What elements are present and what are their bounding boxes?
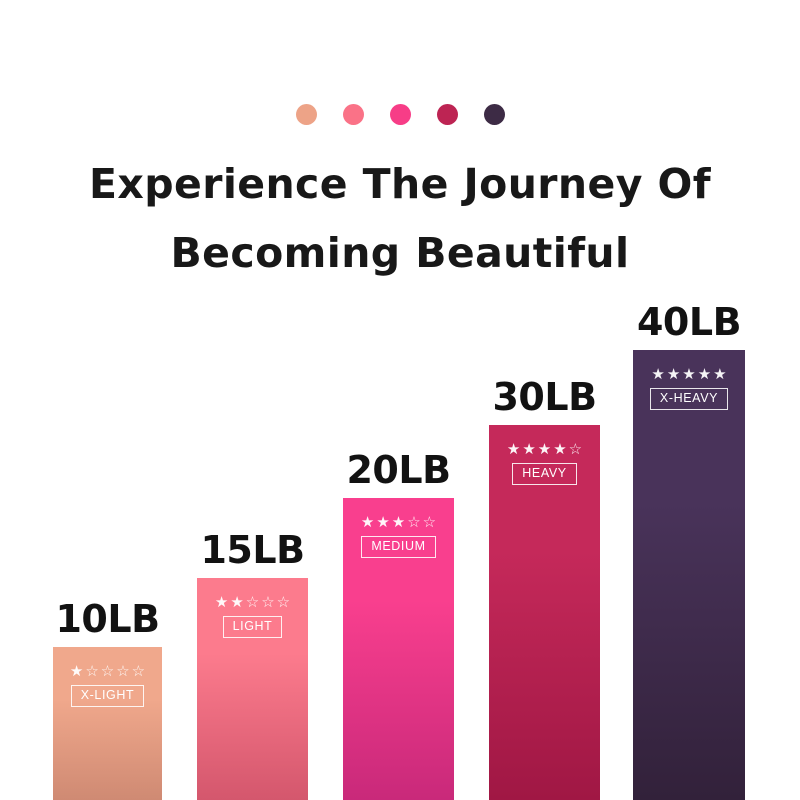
bar-badge: ★★★☆☆MEDIUM xyxy=(343,515,454,558)
star-empty-icon: ☆ xyxy=(85,664,98,679)
bar-tag-label: HEAVY xyxy=(512,463,576,485)
star-empty-icon: ☆ xyxy=(246,595,259,610)
star-filled-icon: ★ xyxy=(392,515,405,530)
bar-tag-label: LIGHT xyxy=(223,616,283,638)
star-filled-icon: ★ xyxy=(70,664,83,679)
star-rating: ★☆☆☆☆ xyxy=(70,664,145,679)
star-rating: ★★★☆☆ xyxy=(361,515,436,530)
star-rating: ★★★★★ xyxy=(651,367,726,382)
bar-tag-label: X-LIGHT xyxy=(71,685,145,707)
star-filled-icon: ★ xyxy=(667,367,680,382)
star-empty-icon: ☆ xyxy=(261,595,274,610)
star-filled-icon: ★ xyxy=(376,515,389,530)
star-filled-icon: ★ xyxy=(538,442,551,457)
star-filled-icon: ★ xyxy=(230,595,243,610)
bar-group-medium[interactable]: 20LB★★★☆☆MEDIUM xyxy=(343,498,454,800)
bar-group-x-heavy[interactable]: 40LB★★★★★X-HEAVY xyxy=(633,350,745,800)
star-empty-icon: ☆ xyxy=(569,442,582,457)
bar-tag-label: MEDIUM xyxy=(361,536,435,558)
bar-rect: ★★★★★X-HEAVY xyxy=(633,350,745,800)
bar-badge: ★★★★☆HEAVY xyxy=(489,442,600,485)
star-filled-icon: ★ xyxy=(682,367,695,382)
star-empty-icon: ☆ xyxy=(407,515,420,530)
bar-group-heavy[interactable]: 30LB★★★★☆HEAVY xyxy=(489,425,600,800)
bar-rect: ★★☆☆☆LIGHT xyxy=(197,578,308,800)
bar-rect: ★★★★☆HEAVY xyxy=(489,425,600,800)
bar-value-label: 30LB xyxy=(492,375,596,419)
star-filled-icon: ★ xyxy=(553,442,566,457)
star-empty-icon: ☆ xyxy=(277,595,290,610)
bar-rect: ★★★☆☆MEDIUM xyxy=(343,498,454,800)
bar-badge: ★★★★★X-HEAVY xyxy=(633,367,745,410)
star-empty-icon: ☆ xyxy=(101,664,114,679)
star-filled-icon: ★ xyxy=(507,442,520,457)
star-rating: ★★☆☆☆ xyxy=(215,595,290,610)
resistance-band-bar-chart: 10LB★☆☆☆☆X-LIGHT15LB★★☆☆☆LIGHT20LB★★★☆☆M… xyxy=(0,0,800,800)
star-filled-icon: ★ xyxy=(651,367,664,382)
bar-value-label: 20LB xyxy=(346,448,450,492)
star-empty-icon: ☆ xyxy=(132,664,145,679)
bar-group-x-light[interactable]: 10LB★☆☆☆☆X-LIGHT xyxy=(53,647,162,800)
star-empty-icon: ☆ xyxy=(423,515,436,530)
bar-value-label: 15LB xyxy=(200,528,304,572)
bar-fill xyxy=(633,350,745,800)
star-filled-icon: ★ xyxy=(361,515,374,530)
star-filled-icon: ★ xyxy=(698,367,711,382)
bar-badge: ★★☆☆☆LIGHT xyxy=(197,595,308,638)
bar-value-label: 40LB xyxy=(637,300,741,344)
bar-value-label: 10LB xyxy=(55,597,159,641)
bar-badge: ★☆☆☆☆X-LIGHT xyxy=(53,664,162,707)
bar-tag-label: X-HEAVY xyxy=(650,388,728,410)
bar-rect: ★☆☆☆☆X-LIGHT xyxy=(53,647,162,800)
star-rating: ★★★★☆ xyxy=(507,442,582,457)
star-filled-icon: ★ xyxy=(215,595,228,610)
star-empty-icon: ☆ xyxy=(116,664,129,679)
infographic-root: Experience The Journey Of Becoming Beaut… xyxy=(0,0,800,800)
bar-group-light[interactable]: 15LB★★☆☆☆LIGHT xyxy=(197,578,308,800)
star-filled-icon: ★ xyxy=(713,367,726,382)
star-filled-icon: ★ xyxy=(522,442,535,457)
